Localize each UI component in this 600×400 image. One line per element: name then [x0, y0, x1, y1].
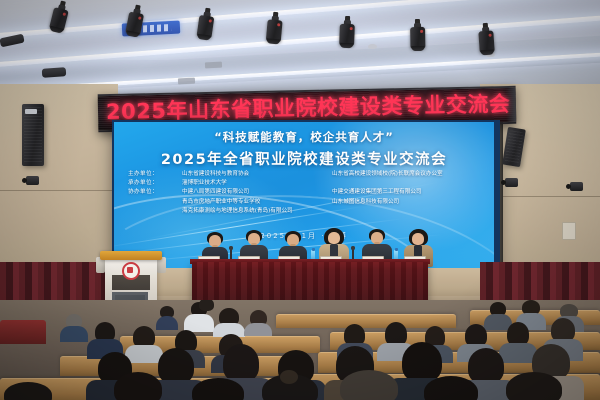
ceiling — [0, 0, 600, 92]
audience-hair — [192, 378, 244, 400]
ceiling-spotlight — [410, 23, 426, 53]
ceiling-spotlight — [339, 19, 355, 50]
screen-subtitle: “科技赋能教育，校企共育人才” — [114, 129, 494, 145]
head-table — [192, 262, 428, 304]
microphone — [230, 248, 232, 259]
organization-label: 协办单位： — [128, 188, 182, 197]
audience-member — [256, 374, 326, 400]
audience-member — [418, 376, 488, 400]
speaker-grille — [505, 130, 524, 164]
ceiling-vent — [178, 78, 195, 85]
audience-hair — [506, 372, 562, 400]
microphone — [352, 248, 354, 259]
audience-member — [246, 310, 270, 334]
organization-name: 山东城图信息科技有限公司 — [332, 198, 480, 207]
panelist-head — [412, 233, 424, 245]
organization-name: 海克拓康测绘与地理信息系统(青岛)有限公司 — [182, 207, 332, 216]
organization-row: 青岛市房地产职业中等专业学校 山东城图信息科技有限公司 — [128, 198, 480, 207]
audience-hair — [199, 300, 214, 311]
organization-label: 主办单位： — [128, 170, 182, 179]
conference-hall-photo: 2025年山东省职业院校建设类专业交流会 “科技赋能教育，校企共育人才” 202… — [0, 0, 600, 400]
ceiling-speaker — [42, 67, 67, 78]
audience-hair — [424, 376, 478, 400]
audience-shoulders — [244, 323, 272, 336]
audience-hair-bun — [280, 370, 298, 384]
organization-name: 中建交通建设集团第三工程有限公司 — [332, 188, 480, 197]
organization-row: 承办单位： 淄博职业技术大学 — [128, 179, 480, 188]
organization-row: 主办单位： 山东省建设科技与教育协会 山东省高校建设领域校(院)长联席会议办公室 — [128, 170, 480, 179]
side-chair — [0, 320, 46, 344]
organization-name: 山东省建设科技与教育协会 — [182, 170, 332, 179]
audience-member — [186, 378, 252, 400]
audience-hair — [340, 370, 398, 400]
organization-row: 协办单位： 中建八局第四建设有限公司 中建交通建设集团第三工程有限公司 — [128, 188, 480, 197]
audience-member — [334, 370, 408, 400]
camera-icon — [505, 178, 518, 187]
audience-member — [108, 372, 170, 400]
panelist-head — [328, 232, 340, 244]
wall-seam — [0, 190, 118, 191]
audience-member — [62, 314, 86, 340]
audience-member — [196, 300, 218, 318]
audience-shoulders — [60, 326, 88, 342]
audience-member — [500, 372, 572, 400]
wall-speaker — [22, 104, 44, 166]
organization-label: 承办单位： — [128, 179, 182, 188]
audience-member — [215, 308, 243, 334]
auditorium-seating — [0, 300, 600, 400]
screen-title: 2025年全省职业院校建设类专业交流会 — [114, 148, 494, 169]
organization-name: 淄博职业技术大学 — [182, 179, 332, 188]
podium-top — [100, 251, 162, 260]
organization-row: 海克拓康测绘与地理信息系统(青岛)有限公司 — [128, 207, 480, 216]
audience-hair — [114, 372, 162, 400]
speaker-label — [25, 109, 37, 114]
podium-emblem-icon — [122, 262, 140, 280]
speaker-grille — [24, 107, 42, 163]
smoke-detector-icon — [368, 44, 377, 49]
ceiling-spotlight — [265, 15, 283, 46]
wall-notice-plate — [562, 222, 576, 240]
ceiling-vent — [205, 62, 222, 69]
audience-hair — [4, 382, 52, 400]
banner-edge — [506, 88, 517, 122]
organization-name: 山东省高校建设领域校(院)长联席会议办公室 — [332, 170, 480, 179]
organization-list: 主办单位： 山东省建设科技与教育协会 山东省高校建设领域校(院)长联席会议办公室… — [128, 170, 480, 216]
audience-member — [90, 322, 120, 356]
organization-name: 中建八局第四建设有限公司 — [182, 188, 332, 197]
organization-name: 青岛市房地产职业中等专业学校 — [182, 198, 332, 207]
audience-member — [0, 382, 60, 400]
camera-icon — [570, 182, 583, 191]
audience-member — [158, 306, 176, 328]
ceiling-spotlight — [478, 26, 495, 57]
camera-icon — [26, 176, 39, 185]
audience-hair — [223, 344, 259, 382]
